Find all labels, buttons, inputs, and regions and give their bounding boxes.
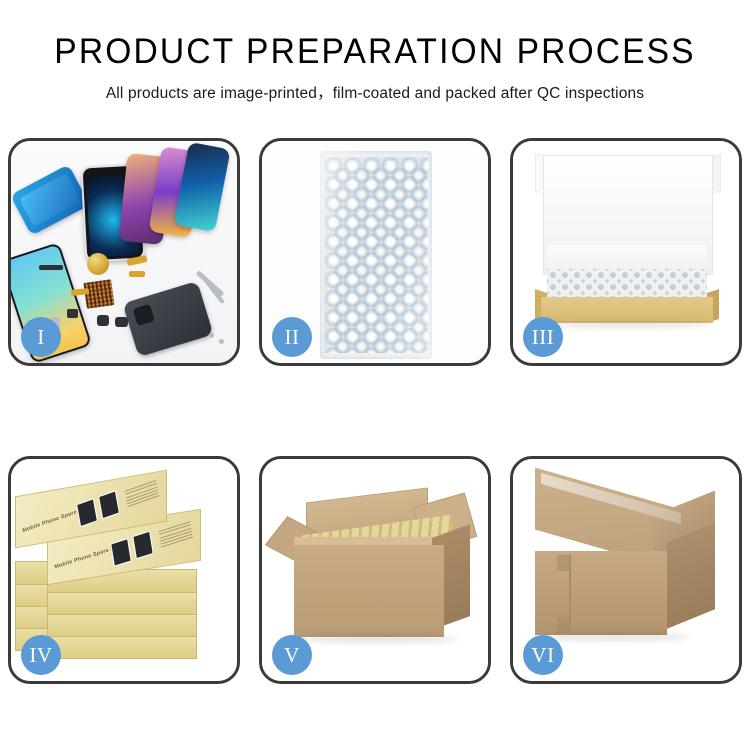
process-step-panel-2: II — [259, 138, 491, 366]
carton-seam-3-icon — [557, 617, 571, 633]
process-step-panel-1: I — [8, 138, 240, 366]
step-badge-2: II — [272, 317, 312, 357]
box-drop-shadow — [543, 321, 711, 328]
open-carton-illustration: V — [262, 459, 488, 681]
bubble-wrap-illustration: II — [262, 141, 488, 363]
carton-seam-2-icon — [557, 555, 571, 571]
stacked-box-right-1 — [47, 635, 197, 659]
box-screen-thumb-top-2 — [98, 490, 120, 519]
page-subtitle: All products are image-printed，film-coat… — [0, 81, 750, 103]
box-spec-lines-top — [125, 480, 160, 510]
sealed-carton-front-panel-icon — [535, 551, 667, 635]
speaker-mesh-icon — [115, 317, 128, 327]
carton-front-panel-icon — [294, 545, 444, 637]
product-preparation-process-page: PRODUCT PREPARATION PROCESS All products… — [0, 0, 750, 750]
camera-module-icon — [97, 315, 109, 326]
plastic-sheen-icon — [320, 151, 432, 359]
step-badge-1: I — [21, 317, 61, 357]
screws-icon — [209, 333, 214, 338]
phone-back-housing-icon — [123, 281, 214, 357]
process-step-panel-3: III — [510, 138, 742, 366]
blue-screen-assembly-icon — [11, 164, 90, 236]
process-step-panel-4: Mobile Phone Spare Parts Mobile Phone Sp… — [8, 456, 240, 684]
step-badge-4: IV — [21, 635, 61, 675]
process-step-panel-5: V — [259, 456, 491, 684]
wireless-charging-coil-icon — [87, 253, 109, 275]
flex-cable-2-icon — [129, 271, 145, 277]
stacked-boxes-illustration: Mobile Phone Spare Parts Mobile Phone Sp… — [11, 459, 237, 681]
small-ic-icon — [67, 309, 78, 318]
process-step-grid: I II — [8, 138, 742, 684]
box-screen-thumb-top-1 — [76, 498, 98, 527]
sealed-carton-drop-shadow — [541, 633, 691, 641]
phone-parts-illustration: I — [11, 141, 237, 363]
bubble-wrapped-contents-icon — [547, 269, 707, 299]
screws-2-icon — [219, 339, 224, 344]
carton-drop-shadow — [298, 635, 458, 643]
step-badge-6: VI — [523, 635, 563, 675]
sealed-carton-right-panel-icon — [667, 523, 715, 628]
bubble-wrapped-package — [320, 151, 432, 359]
process-step-panel-6: VI — [510, 456, 742, 684]
step-badge-3: III — [523, 317, 563, 357]
box-screen-thumb-front-2 — [132, 531, 154, 560]
step-badge-5: V — [272, 635, 312, 675]
box-kraft-front-icon — [541, 297, 713, 323]
stacked-box-right-3 — [47, 591, 197, 615]
sealed-carton-illustration: VI — [513, 459, 739, 681]
box-screen-thumb-front-1 — [110, 538, 132, 567]
page-title: PRODUCT PREPARATION PROCESS — [15, 34, 735, 71]
box-spec-lines-front — [159, 521, 194, 550]
page-header: PRODUCT PREPARATION PROCESS All products… — [0, 0, 750, 103]
stacked-box-right-2 — [47, 613, 197, 637]
connector-chip-icon — [39, 265, 63, 270]
open-inner-box-illustration: III — [513, 141, 739, 363]
